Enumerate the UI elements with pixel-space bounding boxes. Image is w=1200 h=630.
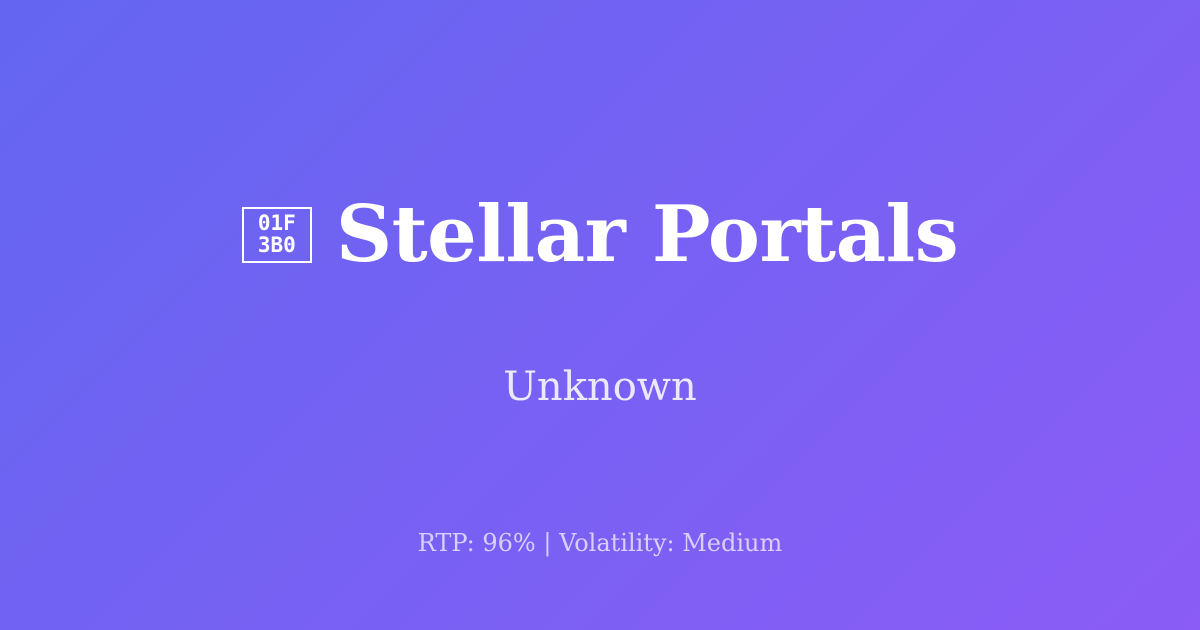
social-card: 01F 3B0 Stellar Portals Unknown RTP: 96%…: [0, 0, 1200, 630]
page-subtitle: Unknown: [0, 362, 1200, 412]
game-stats-line: RTP: 96% | Volatility: Medium: [0, 528, 1200, 559]
tofu-codepoint-line-2: 3B0: [258, 235, 296, 257]
slot-machine-emoji-icon: 01F 3B0: [242, 207, 312, 263]
page-title: Stellar Portals: [336, 194, 958, 276]
headline: 01F 3B0 Stellar Portals: [0, 194, 1200, 276]
tofu-codepoint-line-1: 01F: [258, 213, 296, 235]
